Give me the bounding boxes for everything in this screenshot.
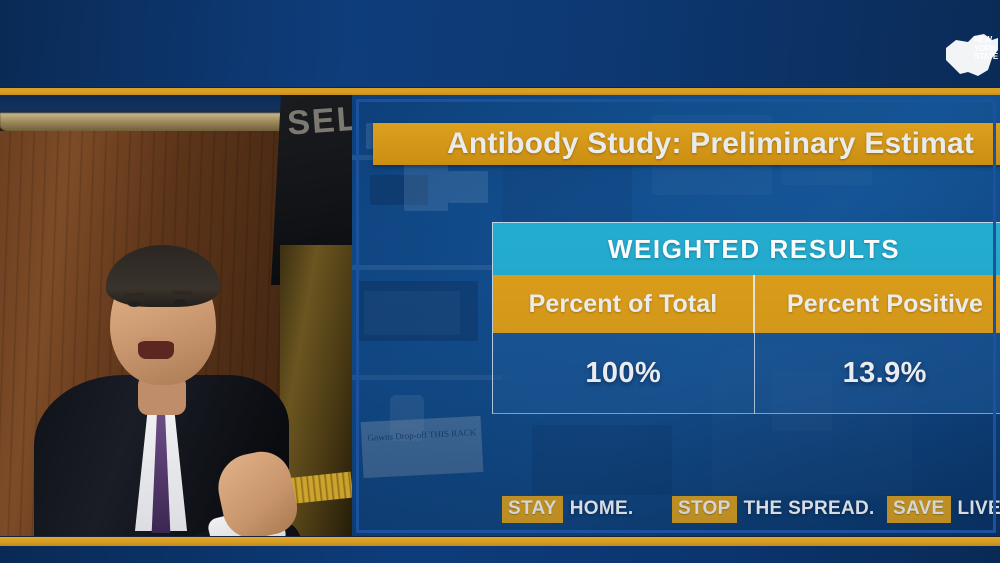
table-row: 100% 13.9% [493, 333, 1000, 414]
table-header-label: WEIGHTED RESULTS [608, 234, 900, 265]
slogan-text: THE SPREAD. [744, 498, 875, 520]
slogan-text: HOME. [570, 498, 634, 520]
cell-value: 100% [585, 357, 661, 390]
governor-figure [34, 225, 294, 537]
top-header-band: NEW YORK STATE [0, 0, 1000, 88]
slogan-highlight: SAVE [887, 496, 951, 523]
slogan-highlight: STOP [672, 496, 737, 523]
broadcast-screen: NEW YORK STATE SEL [0, 0, 1000, 563]
cell-percent-positive: 13.9% [754, 333, 1000, 414]
column-header-percent-positive: Percent Positive [753, 275, 1000, 333]
governor-mouth [138, 337, 174, 359]
public-health-slogan: STAY HOME. STOP THE SPREAD. SAVE LIVES [352, 493, 1000, 525]
logo-text: NEW YORK STATE [974, 36, 998, 62]
cell-percent-of-total: 100% [493, 333, 754, 414]
footer-navy-band [0, 546, 1000, 563]
table-column-headers: Percent of Total Percent Positive [493, 275, 1000, 333]
table-header: WEIGHTED RESULTS [493, 223, 1000, 275]
video-feed-governor: SEL Governor Andrew M. Cuomo [0, 95, 352, 537]
column-header-label: Percent of Total [529, 290, 718, 319]
slogan-highlight: STAY [502, 496, 563, 523]
logo-line-3: STATE [974, 53, 998, 62]
graphic-panel: Gowns Drop-off THIS RACK Antibody Study:… [352, 95, 1000, 537]
governor-eye-left [128, 301, 141, 307]
slide-title: Antibody Study: Preliminary Estimat [447, 127, 974, 161]
new-york-state-logo: NEW YORK STATE [944, 28, 1000, 80]
slogan-save-lives: SAVE LIVES [887, 496, 1000, 523]
slogan-text: LIVES [958, 498, 1000, 520]
governor-eye-right [174, 299, 187, 305]
column-header-percent-of-total: Percent of Total [493, 275, 753, 333]
slogan-stop-the-spread: STOP THE SPREAD. [672, 496, 875, 523]
slogan-stay-home: STAY HOME. [502, 496, 634, 523]
governor-hair [106, 245, 220, 307]
cell-value: 13.9% [843, 357, 927, 390]
header-gradient [0, 0, 1000, 88]
slide-title-banner: Antibody Study: Preliminary Estimat [373, 123, 1000, 165]
weighted-results-table: WEIGHTED RESULTS Percent of Total Percen… [492, 222, 1000, 414]
footer-gold-stripe [0, 537, 1000, 546]
column-header-label: Percent Positive [787, 290, 983, 319]
header-gold-stripe [0, 88, 1000, 95]
